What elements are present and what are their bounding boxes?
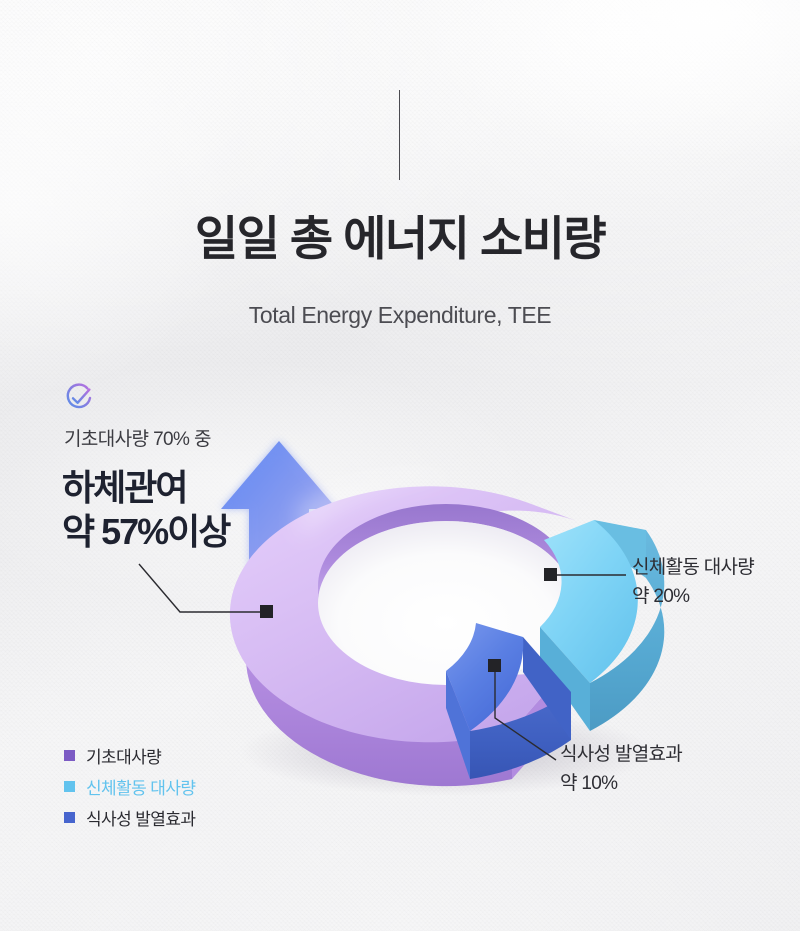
legend-label-physical-activity: 신체활동 대사량 (86, 774, 195, 799)
legend-item-thermic-effect[interactable]: 식사성 발열효과 (64, 802, 195, 833)
legend-item-bmr[interactable]: 기초대사량 (64, 740, 195, 771)
callout-physical-activity-line2: 약 20% (632, 582, 754, 611)
callout-thermic-effect: 식사성 발열효과 약 10% (560, 740, 682, 799)
circle-check-icon (62, 381, 96, 415)
callout-thermic-effect-line2: 약 10% (560, 769, 682, 798)
bmr-headline: 하체관여 약 57%이상 (62, 466, 229, 554)
legend-item-physical-activity[interactable]: 신체활동 대사량 (64, 771, 195, 802)
legend-label-bmr: 기초대사량 (86, 743, 161, 768)
bmr-headline-line1: 하체관여 (62, 466, 229, 510)
callout-physical-activity: 신체활동 대사량 약 20% (632, 553, 754, 612)
bmr-kicker-text: 기초대사량 70% 중 (64, 424, 211, 451)
legend-label-thermic-effect: 식사성 발열효과 (86, 805, 195, 830)
legend-swatch-thermic-effect (64, 812, 75, 823)
bmr-headline-line2: 약 57%이상 (62, 510, 229, 554)
callout-physical-activity-line1: 신체활동 대사량 (632, 553, 754, 582)
legend-swatch-bmr (64, 750, 75, 761)
chart-legend: 기초대사량 신체활동 대사량 식사성 발열효과 (64, 740, 195, 833)
legend-swatch-physical-activity (64, 781, 75, 792)
callout-thermic-effect-line1: 식사성 발열효과 (560, 740, 682, 769)
